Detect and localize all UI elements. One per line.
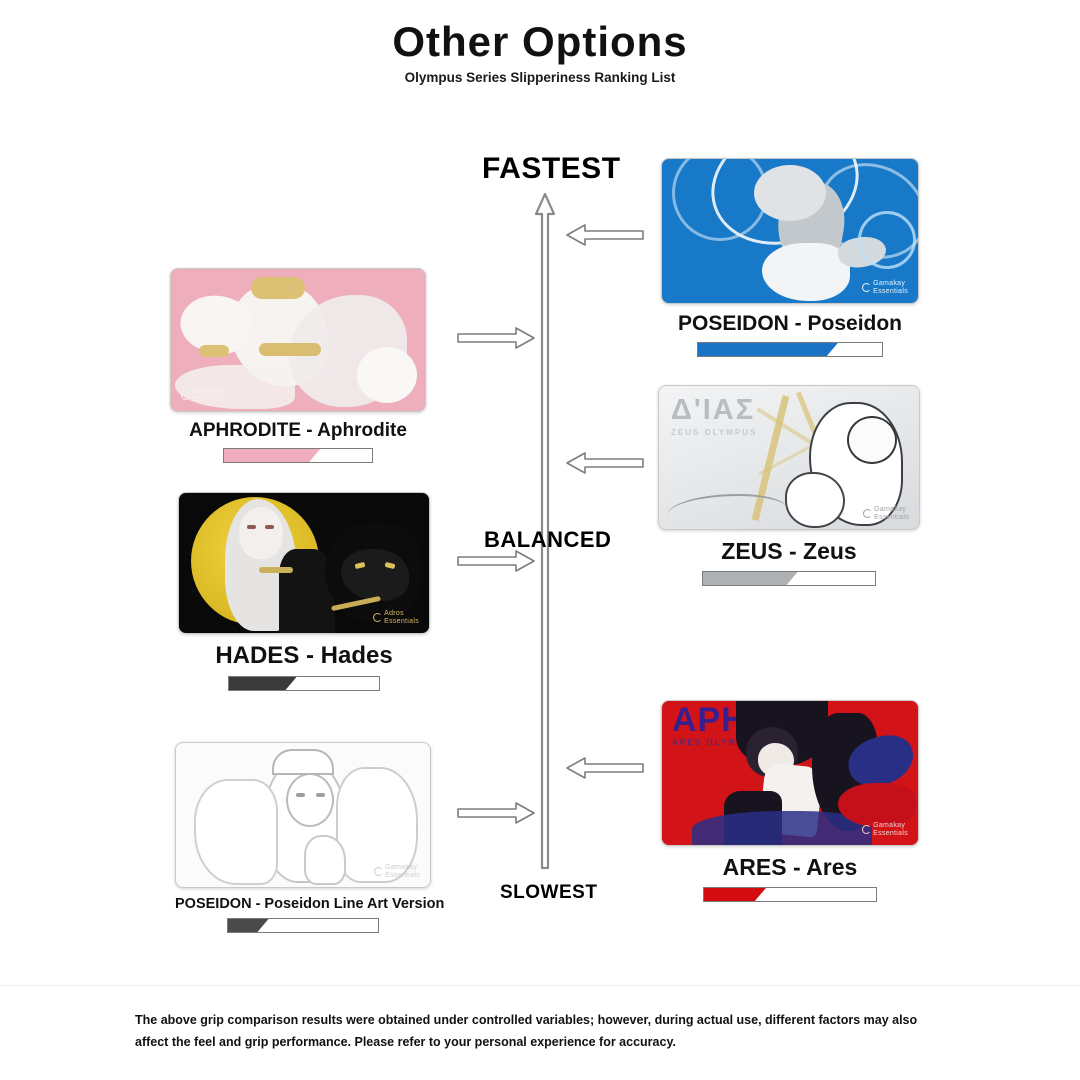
brand-logo-hades: AdrosEssentials — [373, 610, 419, 625]
product-image-poseidon-lineart: GamakayEssentials — [175, 742, 431, 888]
brand-logo-poseidon-lineart: GamakayEssentials — [374, 864, 420, 879]
connector-arrow-poseidon-lineart — [456, 800, 536, 826]
brand-logo-poseidon: GamakayEssentials — [862, 280, 908, 295]
brand-logo-ares: GamakayEssentials — [862, 822, 908, 837]
connector-arrow-poseidon — [565, 222, 645, 248]
footer-divider — [0, 985, 1080, 986]
ranking-infographic: Other Options Olympus Series Slipperines… — [0, 0, 1080, 1080]
grip-meter-fill-poseidon — [698, 343, 838, 356]
product-image-hades: AdrosEssentials — [178, 492, 430, 634]
connector-arrow-ares — [565, 755, 645, 781]
axis-label-slowest: SLOWEST — [500, 882, 597, 904]
grip-meter-poseidon — [697, 342, 883, 357]
grip-meter-poseidon-lineart — [227, 918, 379, 933]
product-name-aphrodite: APHRODITE - Aphrodite — [170, 420, 426, 442]
grip-meter-fill-hades — [229, 677, 297, 690]
page-title: Other Options — [0, 18, 1080, 66]
product-name-poseidon-lineart: POSEIDON - Poseidon Line Art Version — [175, 896, 431, 912]
grip-meter-fill-ares — [704, 888, 766, 901]
brand-circle-icon — [373, 613, 382, 622]
brand-logo-aphrodite: GamakayEssentials — [181, 388, 227, 403]
artwork-text-zeus: Δ'ΙΑΣ ZEUS OLYMPUS — [671, 394, 757, 437]
brand-circle-icon — [863, 509, 872, 518]
grip-meter-fill-aphrodite — [224, 449, 320, 462]
connector-arrow-zeus — [565, 450, 645, 476]
product-card-ares[interactable]: APH ARES OLYMPUS GamakayEssentials ARES … — [661, 700, 919, 902]
product-image-zeus: Δ'ΙΑΣ ZEUS OLYMPUS GamakayEssentials — [658, 385, 920, 530]
brand-circle-icon — [181, 391, 190, 400]
grip-meter-fill-zeus — [703, 572, 798, 585]
product-card-zeus[interactable]: Δ'ΙΑΣ ZEUS OLYMPUS GamakayEssentials ZEU… — [658, 385, 920, 586]
grip-meter-hades — [228, 676, 380, 691]
page-subtitle: Olympus Series Slipperiness Ranking List — [0, 70, 1080, 85]
product-card-hades[interactable]: AdrosEssentials HADES - Hades — [178, 492, 430, 691]
grip-meter-fill-poseidon-lineart — [228, 919, 269, 932]
grip-meter-aphrodite — [223, 448, 373, 463]
connector-arrow-hades — [456, 548, 536, 574]
product-card-poseidon[interactable]: GamakayEssentials POSEIDON - Poseidon — [661, 158, 919, 357]
product-image-aphrodite: GamakayEssentials — [170, 268, 426, 412]
product-image-ares: APH ARES OLYMPUS GamakayEssentials — [661, 700, 919, 846]
brand-circle-icon — [374, 867, 383, 876]
product-card-aphrodite[interactable]: GamakayEssentials APHRODITE - Aphrodite — [170, 268, 426, 463]
product-name-ares: ARES - Ares — [661, 854, 919, 881]
product-name-hades: HADES - Hades — [178, 642, 430, 670]
grip-meter-ares — [703, 887, 877, 902]
product-card-poseidon-lineart[interactable]: GamakayEssentials POSEIDON - Poseidon Li… — [175, 742, 431, 933]
product-name-zeus: ZEUS - Zeus — [658, 538, 920, 565]
brand-logo-zeus: GamakayEssentials — [863, 506, 909, 521]
product-name-poseidon: POSEIDON - Poseidon — [661, 312, 919, 336]
connector-arrow-aphrodite — [456, 325, 536, 351]
grip-meter-zeus — [702, 571, 876, 586]
axis-label-fastest: FASTEST — [482, 152, 621, 186]
footer-disclaimer: The above grip comparison results were o… — [135, 1010, 935, 1054]
product-image-poseidon: GamakayEssentials — [661, 158, 919, 304]
brand-circle-icon — [862, 825, 871, 834]
brand-circle-icon — [862, 283, 871, 292]
